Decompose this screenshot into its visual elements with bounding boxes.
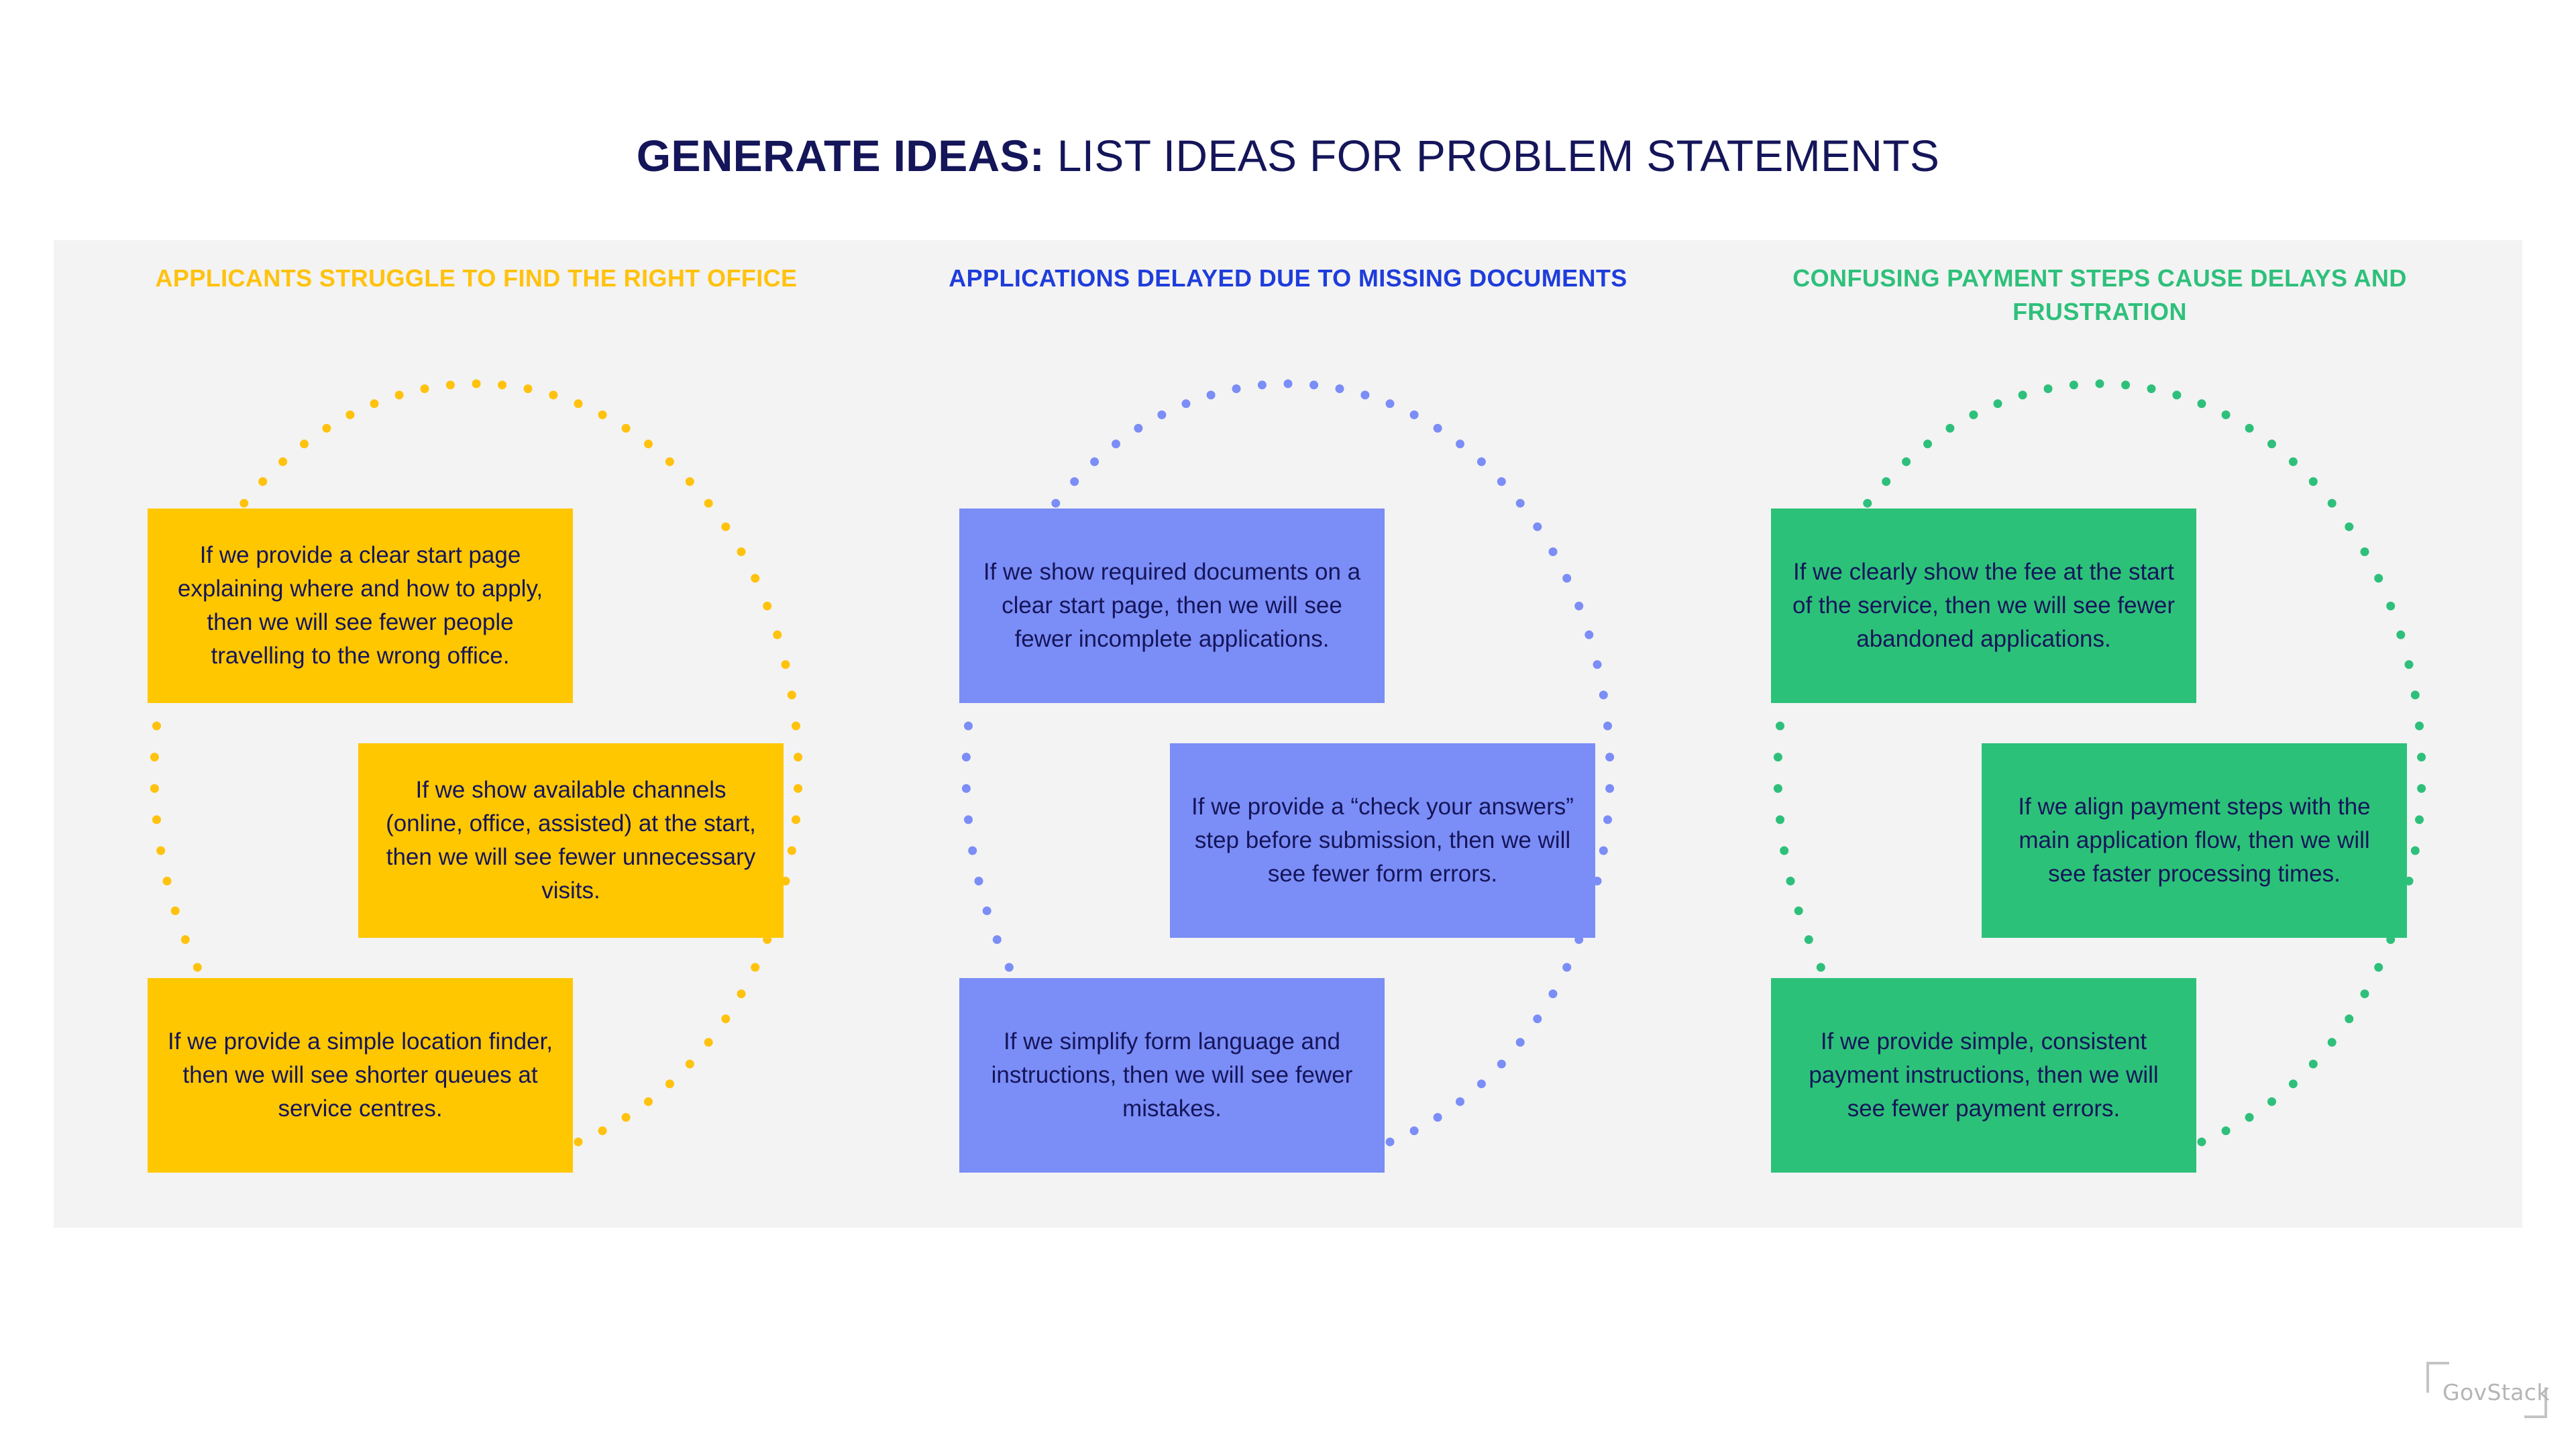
content-panel: APPLICANTS STRUGGLE TO FIND THE RIGHT OF… [54,240,2522,1228]
idea-card[interactable]: If we provide a clear start page explain… [148,508,573,703]
idea-card[interactable]: If we provide a “check your answers” ste… [1170,743,1595,938]
idea-card-text: If we show available channels (online, o… [378,773,763,908]
idea-column-applications-delayed: APPLICATIONS DELAYED DUE TO MISSING DOCU… [892,240,1684,1228]
idea-card-text: If we provide simple, consistent payment… [1791,1025,2176,1126]
page-title-light: LIST IDEAS FOR PROBLEM STATEMENTS [1044,131,1939,180]
idea-card[interactable]: If we simplify form language and instruc… [959,978,1385,1173]
idea-card[interactable]: If we clearly show the fee at the start … [1771,508,2196,703]
column-heading-2: CONFUSING PAYMENT STEPS CAUSE DELAYS AND… [1704,262,2495,328]
idea-card-text: If we clearly show the fee at the start … [1791,555,2176,656]
logo-text: GovStack [2443,1379,2550,1405]
idea-card[interactable]: If we show available channels (online, o… [358,743,784,938]
idea-card-text: If we provide a clear start page explain… [168,539,553,673]
idea-card-text: If we show required documents on a clear… [979,555,1364,656]
slide-canvas: GENERATE IDEAS: LIST IDEAS FOR PROBLEM S… [0,0,2576,1449]
idea-card[interactable]: If we provide a simple location finder, … [148,978,573,1173]
column-heading-1: APPLICATIONS DELAYED DUE TO MISSING DOCU… [892,262,1684,295]
idea-card-text: If we simplify form language and instruc… [979,1025,1364,1126]
govstack-logo: GovStack [2426,1362,2547,1418]
idea-card-text: If we align payment steps with the main … [2002,790,2387,891]
idea-column-confusing-payment: CONFUSING PAYMENT STEPS CAUSE DELAYS AND… [1704,240,2495,1228]
idea-card[interactable]: If we align payment steps with the main … [1982,743,2407,938]
idea-card-text: If we provide a simple location finder, … [168,1025,553,1126]
page-title: GENERATE IDEAS: LIST IDEAS FOR PROBLEM S… [0,131,2576,180]
idea-card-text: If we provide a “check your answers” ste… [1190,790,1575,891]
idea-card[interactable]: If we provide simple, consistent payment… [1771,978,2196,1173]
page-title-strong: GENERATE IDEAS: [637,131,1044,180]
column-heading-0: APPLICANTS STRUGGLE TO FIND THE RIGHT OF… [80,262,872,295]
idea-card[interactable]: If we show required documents on a clear… [959,508,1385,703]
idea-column-applicants-struggle: APPLICANTS STRUGGLE TO FIND THE RIGHT OF… [80,240,872,1228]
